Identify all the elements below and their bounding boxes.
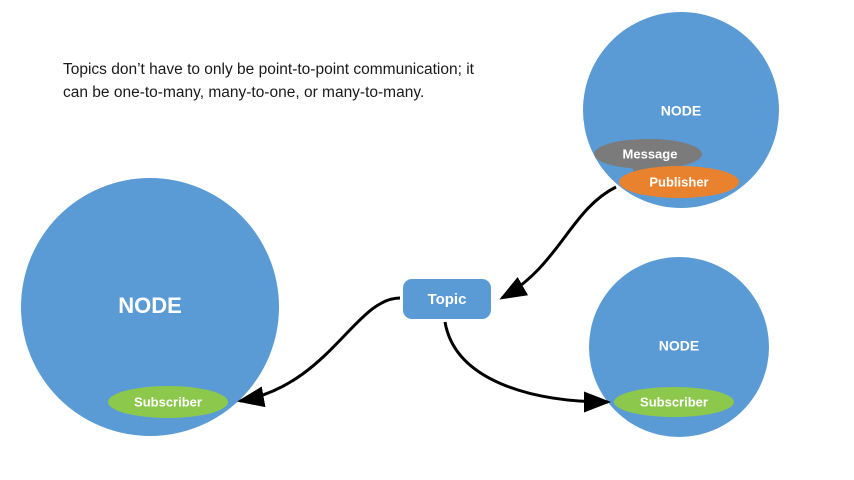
node-left-label: NODE <box>118 293 182 318</box>
arrow-publisher-to-topic <box>502 187 616 298</box>
arrow-topic-to-subscriber-right <box>445 322 608 402</box>
subscriber-left-label: Subscriber <box>134 394 202 409</box>
topic-box[interactable]: Topic <box>403 279 491 319</box>
node-top-right[interactable]: NODE Message Publisher <box>583 12 779 208</box>
message-label: Message <box>623 146 678 161</box>
node-left[interactable]: NODE Subscriber <box>21 178 279 436</box>
node-bottom-right-label: NODE <box>659 338 699 354</box>
publisher-label: Publisher <box>649 174 708 189</box>
subscriber-right-label: Subscriber <box>640 394 708 409</box>
diagram-graphics: NODE Subscriber NODE Message Publisher N… <box>0 0 854 480</box>
node-bottom-right[interactable]: NODE Subscriber <box>589 257 769 437</box>
node-top-right-label: NODE <box>661 103 701 119</box>
diagram-canvas: Topics don’t have to only be point-to-po… <box>0 0 854 480</box>
topic-box-label: Topic <box>428 291 467 308</box>
